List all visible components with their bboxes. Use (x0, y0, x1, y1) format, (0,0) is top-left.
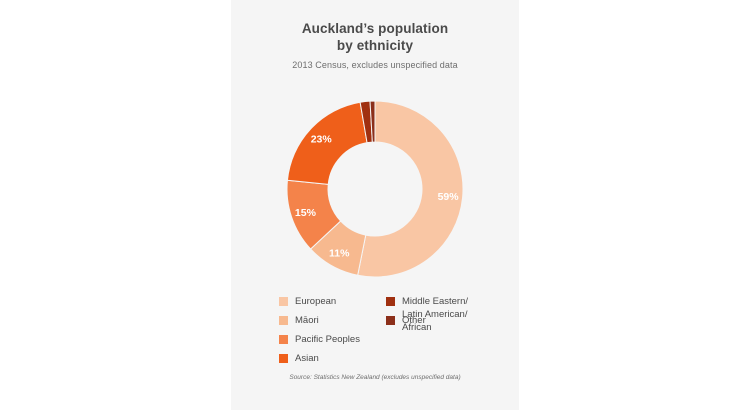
chart-title-line-2: by ethnicity (231, 37, 519, 54)
legend-label: Pacific Peoples (295, 333, 360, 346)
legend-swatch (279, 335, 288, 344)
donut-chart: 59%11%15%23%2%1% (283, 97, 467, 281)
legend-label: Māori (295, 314, 319, 327)
slice-label: 11% (329, 248, 350, 260)
legend-item[interactable]: European (279, 295, 360, 309)
chart-title: Auckland’s population by ethnicity (231, 20, 519, 54)
legend-item[interactable]: Māori (279, 314, 360, 328)
legend-column-left: EuropeanMāoriPacific PeoplesAsian (279, 295, 360, 371)
legend-swatch (386, 297, 395, 306)
legend-item[interactable]: Pacific Peoples (279, 333, 360, 347)
legend-label: Asian (295, 352, 319, 365)
chart-subtitle: 2013 Census, excludes unspecified data (231, 60, 519, 70)
slice-label: 59% (438, 191, 460, 203)
legend-swatch (279, 354, 288, 363)
chart-source: Source: Statistics New Zealand (excludes… (231, 374, 519, 381)
chart-legend: EuropeanMāoriPacific PeoplesAsian Middle… (231, 295, 519, 370)
legend-swatch (279, 316, 288, 325)
legend-item[interactable]: Asian (279, 352, 360, 366)
donut-slices (287, 101, 463, 277)
legend-swatch (386, 316, 395, 325)
legend-label: European (295, 295, 336, 308)
legend-label: Other (402, 314, 426, 327)
chart-figure: Auckland’s population by ethnicity 2013 … (231, 0, 519, 410)
chart-title-line-1: Auckland’s population (231, 20, 519, 37)
legend-item[interactable]: Middle Eastern/ Latin American/ African (386, 295, 468, 309)
legend-column-right: Middle Eastern/ Latin American/ AfricanO… (386, 295, 468, 333)
slice-label: 23% (311, 133, 333, 145)
donut-svg: 59%11%15%23%2%1% (283, 97, 467, 281)
legend-swatch (279, 297, 288, 306)
slice-label: 15% (295, 207, 317, 219)
